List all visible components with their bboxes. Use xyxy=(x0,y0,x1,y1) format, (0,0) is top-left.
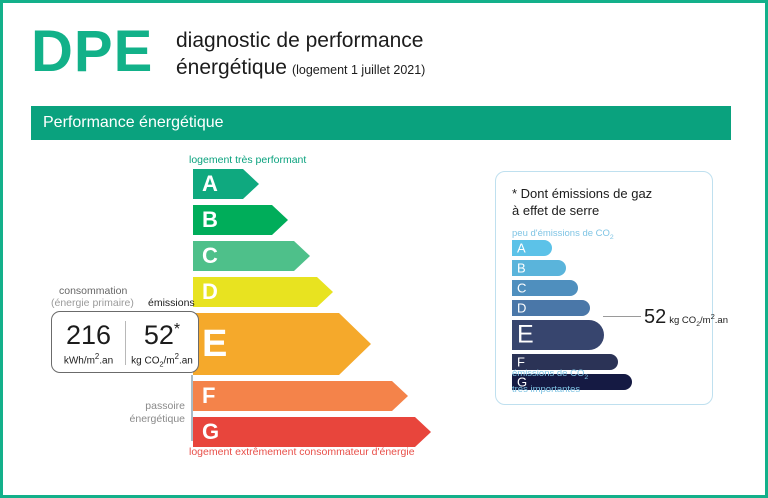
energy-bar-tip xyxy=(294,241,310,271)
co2-panel-title-line2: à effet de serre xyxy=(512,202,702,219)
co2-annotation: 52kg CO2/m2.an xyxy=(644,306,728,329)
passoire-label-line2: énergétique xyxy=(113,413,185,426)
co2-panel-title-line1: * Dont émissions de gaz xyxy=(512,185,702,202)
passoire-label-line1: passoire xyxy=(113,400,185,413)
energy-scale: logement très performant ABCDEFG logemen… xyxy=(3,3,473,498)
label-consommation: consommation xyxy=(59,285,127,297)
dpe-label-page: DPE diagnostic de performance énergétiqu… xyxy=(0,0,768,498)
co2-bar-e: E xyxy=(512,320,604,350)
co2-bottom-caption-line1: émissions de CO2 xyxy=(512,368,588,384)
co2-bar-letter: A xyxy=(517,242,526,255)
label-emissions: émissions xyxy=(148,297,195,309)
energy-bar-letter: G xyxy=(202,421,219,443)
co2-annotation-value: 52 xyxy=(644,306,666,328)
co2-top-caption-sub: 2 xyxy=(610,234,614,241)
co2-annot-unit-suffix: .an xyxy=(715,315,728,326)
co2-unit-prefix: kg CO xyxy=(131,355,159,366)
consumption-labels: consommation (énergie primaire) émission… xyxy=(51,285,201,311)
co2-bottom-caption: émissions de CO2 très importantes xyxy=(512,368,588,396)
passoire-bracket xyxy=(191,375,193,441)
scale-top-caption: logement très performant xyxy=(189,154,306,166)
energy-bar-letter: F xyxy=(202,385,215,407)
co2-emission-value: 52* xyxy=(126,320,198,350)
co2-bar-a: A xyxy=(512,240,552,256)
energy-bar-tip xyxy=(317,277,333,307)
consumption-box: 216 kWh/m2.an 52* kg CO2/m2.an xyxy=(51,311,199,373)
energy-bar-f: F xyxy=(193,381,408,411)
co2-value-star: * xyxy=(174,321,180,338)
co2-bar-d: D xyxy=(512,300,590,316)
co2-bar-letter: B xyxy=(517,262,526,275)
energy-bar-letter: C xyxy=(202,245,218,267)
label-energie-primaire: (énergie primaire) xyxy=(51,297,134,309)
energy-bar-e: E xyxy=(193,313,371,375)
co2-emission-unit: kg CO2/m2.an xyxy=(126,352,198,368)
co2-bottom-caption-line2: très importantes xyxy=(512,384,588,396)
energy-bar-g: G xyxy=(193,417,431,447)
co2-bottom-caption-sub: 2 xyxy=(584,374,588,381)
energy-bar-tip xyxy=(243,169,259,199)
co2-bar-c: C xyxy=(512,280,578,296)
scale-bottom-caption: logement extrêmement consommateur d'éner… xyxy=(189,446,415,458)
co2-panel-title: * Dont émissions de gaz à effet de serre xyxy=(512,185,702,219)
energy-consumption-value: 216 xyxy=(52,320,125,350)
energy-unit-suffix: .an xyxy=(99,355,113,366)
energy-bar-body xyxy=(193,417,415,447)
co2-bar-b: B xyxy=(512,260,566,276)
energy-bar-letter: A xyxy=(202,173,218,195)
energy-bar-a: A xyxy=(193,169,259,199)
energy-bar-letter: B xyxy=(202,209,218,231)
energy-bar-c: C xyxy=(193,241,310,271)
co2-bar-letter: F xyxy=(517,356,525,369)
energy-bar-tip xyxy=(272,205,288,235)
co2-annot-unit-prefix: kg CO xyxy=(669,315,696,326)
co2-unit-mid: /m xyxy=(163,355,174,366)
energy-bar-body xyxy=(193,381,392,411)
co2-bar-letter: D xyxy=(517,302,526,315)
energy-bar-tip xyxy=(415,417,431,447)
energy-bar-b: B xyxy=(193,205,288,235)
co2-bar-letter: C xyxy=(517,282,526,295)
energy-bar-tip xyxy=(392,381,408,411)
co2-leader-line xyxy=(603,316,641,317)
co2-top-caption: peu d'émissions de CO2 xyxy=(512,228,614,241)
co2-bottom-caption-text: émissions de CO xyxy=(512,368,584,379)
co2-annot-unit-mid: /m xyxy=(700,315,711,326)
energy-bar-letter: E xyxy=(202,325,227,363)
energy-bar-d: D xyxy=(193,277,333,307)
co2-top-caption-text: peu d'émissions de CO xyxy=(512,228,610,239)
energy-bar-body xyxy=(193,169,243,199)
energy-consumption-unit: kWh/m2.an xyxy=(52,352,125,366)
energy-bar-tip xyxy=(339,313,371,375)
co2-value-number: 52 xyxy=(144,320,174,350)
co2-bar-letter: E xyxy=(517,323,534,348)
co2-panel: * Dont émissions de gaz à effet de serre… xyxy=(495,171,713,405)
co2-emission-cell: 52* kg CO2/m2.an xyxy=(126,312,198,372)
energy-consumption-cell: 216 kWh/m2.an xyxy=(52,312,125,372)
energy-unit-prefix: kWh/m xyxy=(64,355,95,366)
co2-unit-suffix: .an xyxy=(179,355,193,366)
co2-annotation-unit: kg CO2/m2.an xyxy=(666,315,728,326)
passoire-label: passoire énergétique xyxy=(113,400,185,426)
energy-bar-letter: D xyxy=(202,281,218,303)
